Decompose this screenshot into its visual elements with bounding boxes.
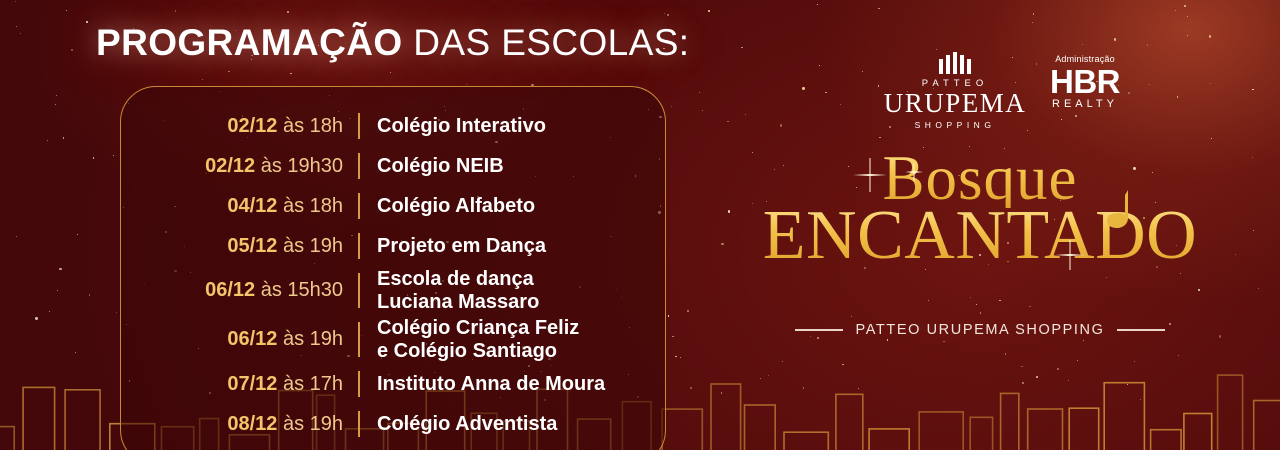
star-dot [780, 124, 782, 126]
star-dot [825, 92, 826, 93]
star-dot [671, 106, 672, 107]
star-dot [1149, 84, 1150, 85]
star-dot [1083, 340, 1084, 341]
star-dot [851, 316, 852, 317]
star-dot [56, 95, 57, 96]
star-dot [1147, 44, 1148, 45]
patteo-logo-main: URUPEMA [870, 90, 1040, 117]
star-dot [1252, 157, 1253, 158]
star-dot [687, 310, 688, 311]
schedule-time: às 17h [277, 373, 343, 395]
logo-group: PATTEO URUPEMA SHOPPING Administração HB… [830, 52, 1140, 126]
star-dot [721, 243, 723, 245]
star-dot [113, 155, 114, 156]
page-title: PROGRAMAÇÃO DAS ESCOLAS: [96, 22, 689, 64]
star-dot [936, 49, 937, 50]
schedule-row: 08/12 às 19hColégio Adventista [120, 406, 666, 442]
star-dot [664, 13, 665, 14]
schedule-time: às 19h [277, 328, 343, 350]
school-name: Colégio Interativo [360, 115, 546, 138]
star-dot [290, 73, 291, 74]
schedule-row: 02/12 às 18hColégio Interativo [120, 108, 666, 144]
star-dot [752, 152, 753, 153]
star-dot [878, 8, 879, 9]
promo-banner: PROGRAMAÇÃO DAS ESCOLAS: 02/12 às 18hCol… [0, 0, 1280, 450]
schedule-datetime: 08/12 às 19h [120, 413, 358, 436]
star-dot [116, 312, 117, 313]
schedule-date: 02/12 [227, 115, 277, 137]
school-name: Colégio NEIB [360, 155, 504, 178]
school-name: Colégio Adventista [360, 413, 557, 436]
star-dot [66, 10, 67, 11]
schedule-datetime: 02/12 às 19h30 [120, 155, 358, 178]
star-dot [71, 49, 73, 51]
star-dot [228, 71, 229, 72]
star-dot [287, 11, 289, 13]
schedule-time: às 15h30 [255, 279, 343, 301]
star-dot [77, 234, 78, 235]
star-dot [1187, 35, 1188, 36]
star-dot [1082, 44, 1083, 45]
star-dot [1252, 89, 1253, 90]
star-dot [49, 311, 50, 312]
schedule-date: 06/12 [227, 328, 277, 350]
schedule-row: 06/12 às 19hColégio Criança Felize Colég… [120, 317, 666, 362]
star-dot [1210, 83, 1211, 84]
star-dot [1235, 254, 1236, 255]
star-dot [667, 14, 669, 16]
star-dot [175, 10, 176, 11]
schedule-date: 08/12 [227, 413, 277, 435]
star-dot [999, 300, 1000, 301]
schedule-time: às 18h [277, 195, 343, 217]
music-note-icon [1098, 188, 1142, 234]
star-dot [1114, 38, 1116, 40]
schedule-datetime: 07/12 às 17h [120, 373, 358, 396]
schedule-row: 04/12 às 18hColégio Alfabeto [120, 188, 666, 224]
star-dot [970, 297, 971, 298]
schedule-date: 07/12 [227, 373, 277, 395]
school-name: Colégio Alfabeto [360, 195, 535, 218]
star-dot [1258, 288, 1259, 289]
star-dot [1033, 13, 1034, 14]
star-dot [1029, 306, 1030, 307]
star-dot [16, 26, 17, 27]
star-dot [1184, 5, 1186, 7]
star-dot [16, 236, 17, 237]
schedule-row: 06/12 às 15h30Escola de dançaLuciana Mas… [120, 268, 666, 313]
star-dot [943, 341, 944, 342]
title-light: DAS ESCOLAS: [413, 22, 689, 63]
schedule-row: 05/12 às 19hProjeto em Dança [120, 228, 666, 264]
star-dot [879, 137, 880, 138]
subtitle-text: PATTEO URUPEMA SHOPPING [856, 322, 1105, 338]
school-name: Projeto em Dança [360, 235, 546, 258]
patteo-logo-sub: SHOPPING [870, 120, 1040, 130]
star-dot [20, 33, 21, 34]
star-dot [63, 137, 64, 138]
event-subtitle: PATTEO URUPEMA SHOPPING [760, 322, 1200, 338]
pillars-icon [870, 52, 1040, 74]
school-name: Colégio Criança Felize Colégio Santiago [360, 317, 579, 362]
school-name: Instituto Anna de Moura [360, 373, 605, 396]
schedule-list: 02/12 às 18hColégio Interativo02/12 às 1… [120, 98, 666, 446]
star-dot [887, 339, 888, 340]
schedule-datetime: 02/12 às 18h [120, 115, 358, 138]
star-dot [1209, 35, 1211, 37]
star-dot [672, 336, 673, 337]
star-dot [89, 294, 90, 295]
schedule-datetime: 06/12 às 19h [120, 328, 358, 351]
star-dot [93, 157, 94, 158]
star-dot [1106, 277, 1107, 278]
star-dot [1175, 10, 1176, 11]
schedule-date: 05/12 [227, 235, 277, 257]
star-dot [708, 10, 709, 11]
schedule-date: 04/12 [227, 195, 277, 217]
schedule-datetime: 04/12 às 18h [120, 195, 358, 218]
hbr-realty-logo: Administração HBR REALTY [1025, 54, 1145, 110]
hbr-logo-sub: REALTY [1025, 98, 1145, 110]
star-dot [1177, 96, 1178, 97]
schedule-date: 06/12 [205, 279, 255, 301]
star-dot [59, 268, 61, 270]
star-dot [1032, 22, 1033, 23]
star-dot [1198, 289, 1199, 290]
star-dot [699, 92, 700, 93]
star-dot [976, 304, 977, 305]
star-dot [55, 104, 56, 105]
star-dot [47, 140, 48, 141]
schedule-date: 02/12 [205, 155, 255, 177]
schedule-row: 02/12 às 19h30Colégio NEIB [120, 148, 666, 184]
star-dot [35, 317, 37, 319]
hbr-logo-main: HBR [1025, 66, 1145, 97]
schedule-time: às 19h [277, 413, 343, 435]
star-dot [728, 210, 730, 212]
star-dot [819, 65, 820, 66]
star-dot [1253, 230, 1254, 231]
schedule-time: às 18h [277, 115, 343, 137]
schedule-datetime: 06/12 às 15h30 [120, 279, 358, 302]
star-dot [75, 352, 76, 353]
star-dot [727, 121, 728, 122]
star-dot [390, 72, 391, 73]
star-dot [741, 47, 742, 48]
star-dot [86, 21, 87, 22]
subtitle-rule-right [1117, 329, 1165, 330]
star-dot [668, 315, 669, 316]
star-dot [752, 203, 753, 204]
star-dot [1219, 335, 1221, 337]
star-dot [745, 114, 746, 115]
star-dot [817, 4, 818, 5]
star-dot [802, 87, 804, 89]
schedule-time: às 19h [277, 235, 343, 257]
star-dot [202, 79, 203, 80]
patteo-urupema-logo: PATTEO URUPEMA SHOPPING [870, 52, 1040, 130]
star-dot [980, 312, 981, 313]
star-dot [57, 290, 58, 291]
title-bold: PROGRAMAÇÃO [96, 22, 403, 63]
star-dot [928, 300, 929, 301]
star-dot [702, 110, 703, 111]
star-dot [1211, 138, 1212, 139]
star-dot [1187, 16, 1188, 17]
schedule-row: 07/12 às 17hInstituto Anna de Moura [120, 366, 666, 402]
schedule-time: às 19h30 [255, 155, 343, 177]
subtitle-rule-left [795, 329, 843, 330]
star-dot [15, 1, 16, 2]
school-name: Escola de dançaLuciana Massaro [360, 268, 539, 313]
schedule-datetime: 05/12 às 19h [120, 235, 358, 258]
